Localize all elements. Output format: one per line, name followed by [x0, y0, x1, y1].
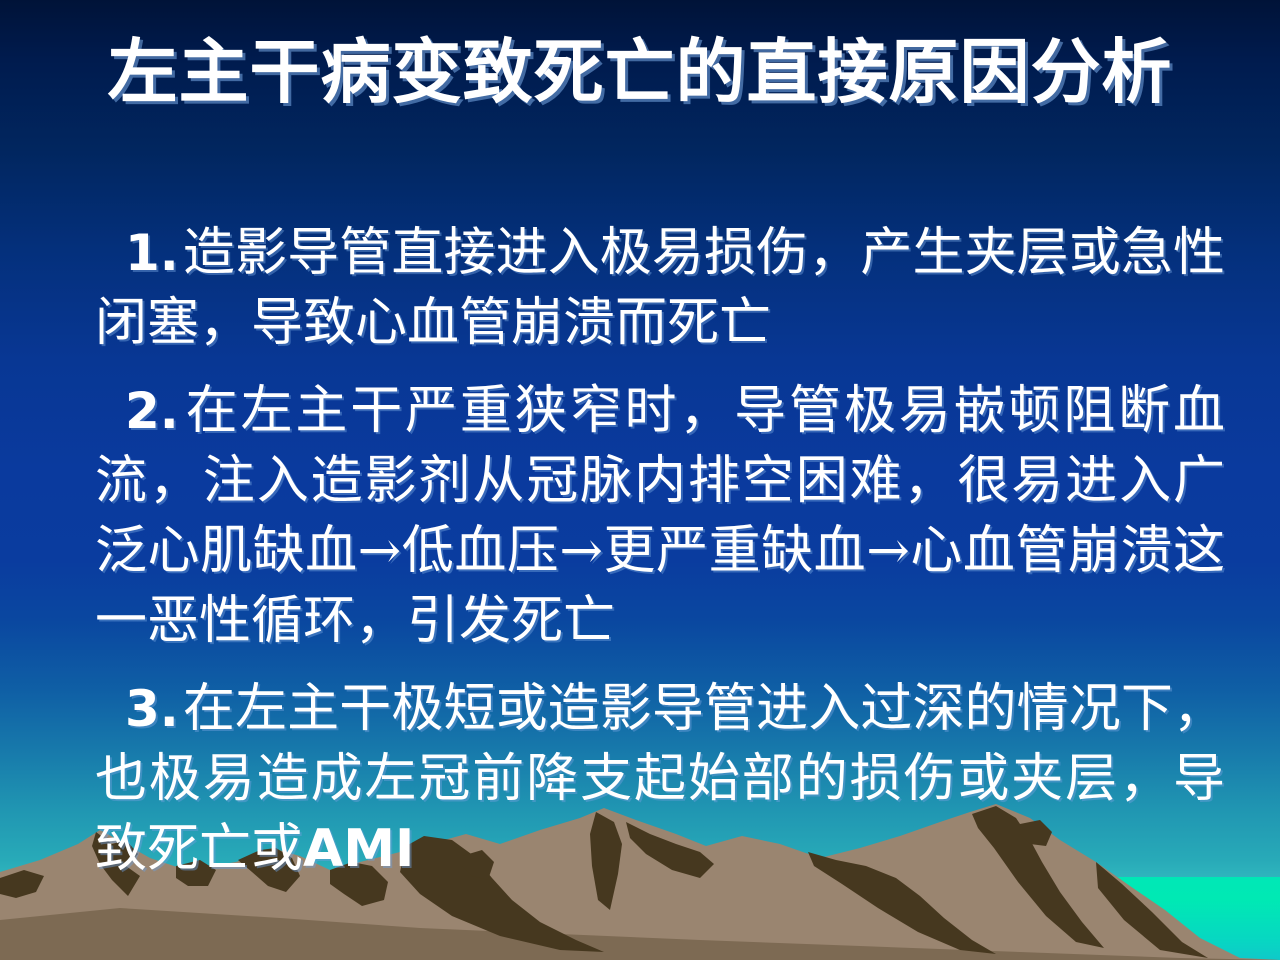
list-item-2: 2.在左主干严重狭窄时，导管极易嵌顿阻断血流，注入造影剂从冠脉内排空困难，很易进… [95, 376, 1225, 656]
page-title: 左主干病变致死亡的直接原因分析 [0, 30, 1280, 114]
list-item-2-number: 2. [125, 382, 183, 440]
list-item-1: 1.造影导管直接进入极易损伤，产生夹层或急性闭塞，导致心血管崩溃而死亡 [95, 218, 1225, 358]
presentation-slide: 左主干病变致死亡的直接原因分析 1.造影导管直接进入极易损伤，产生夹层或急性闭塞… [0, 0, 1280, 960]
list-item-3-number: 3. [125, 680, 183, 738]
list-item-1-text: 造影导管直接进入极易损伤，产生夹层或急性闭塞，导致心血管崩溃而死亡 [95, 223, 1225, 353]
list-item-1-number: 1. [125, 224, 183, 282]
list-item-3-abbreviation: AMI [303, 819, 414, 879]
list-item-2-text: 在左主干严重狭窄时，导管极易嵌顿阻断血流，注入造影剂从冠脉内排空困难，很易进入广… [95, 381, 1225, 651]
list-item-3: 3.在左主干极短或造影导管进入过深的情况下，也极易造成左冠前降支起始部的损伤或夹… [95, 674, 1225, 884]
list-item-3-text: 在左主干极短或造影导管进入过深的情况下，也极易造成左冠前降支起始部的损伤或夹层，… [95, 679, 1225, 879]
content-body: 1.造影导管直接进入极易损伤，产生夹层或急性闭塞，导致心血管崩溃而死亡 2.在左… [95, 218, 1225, 884]
